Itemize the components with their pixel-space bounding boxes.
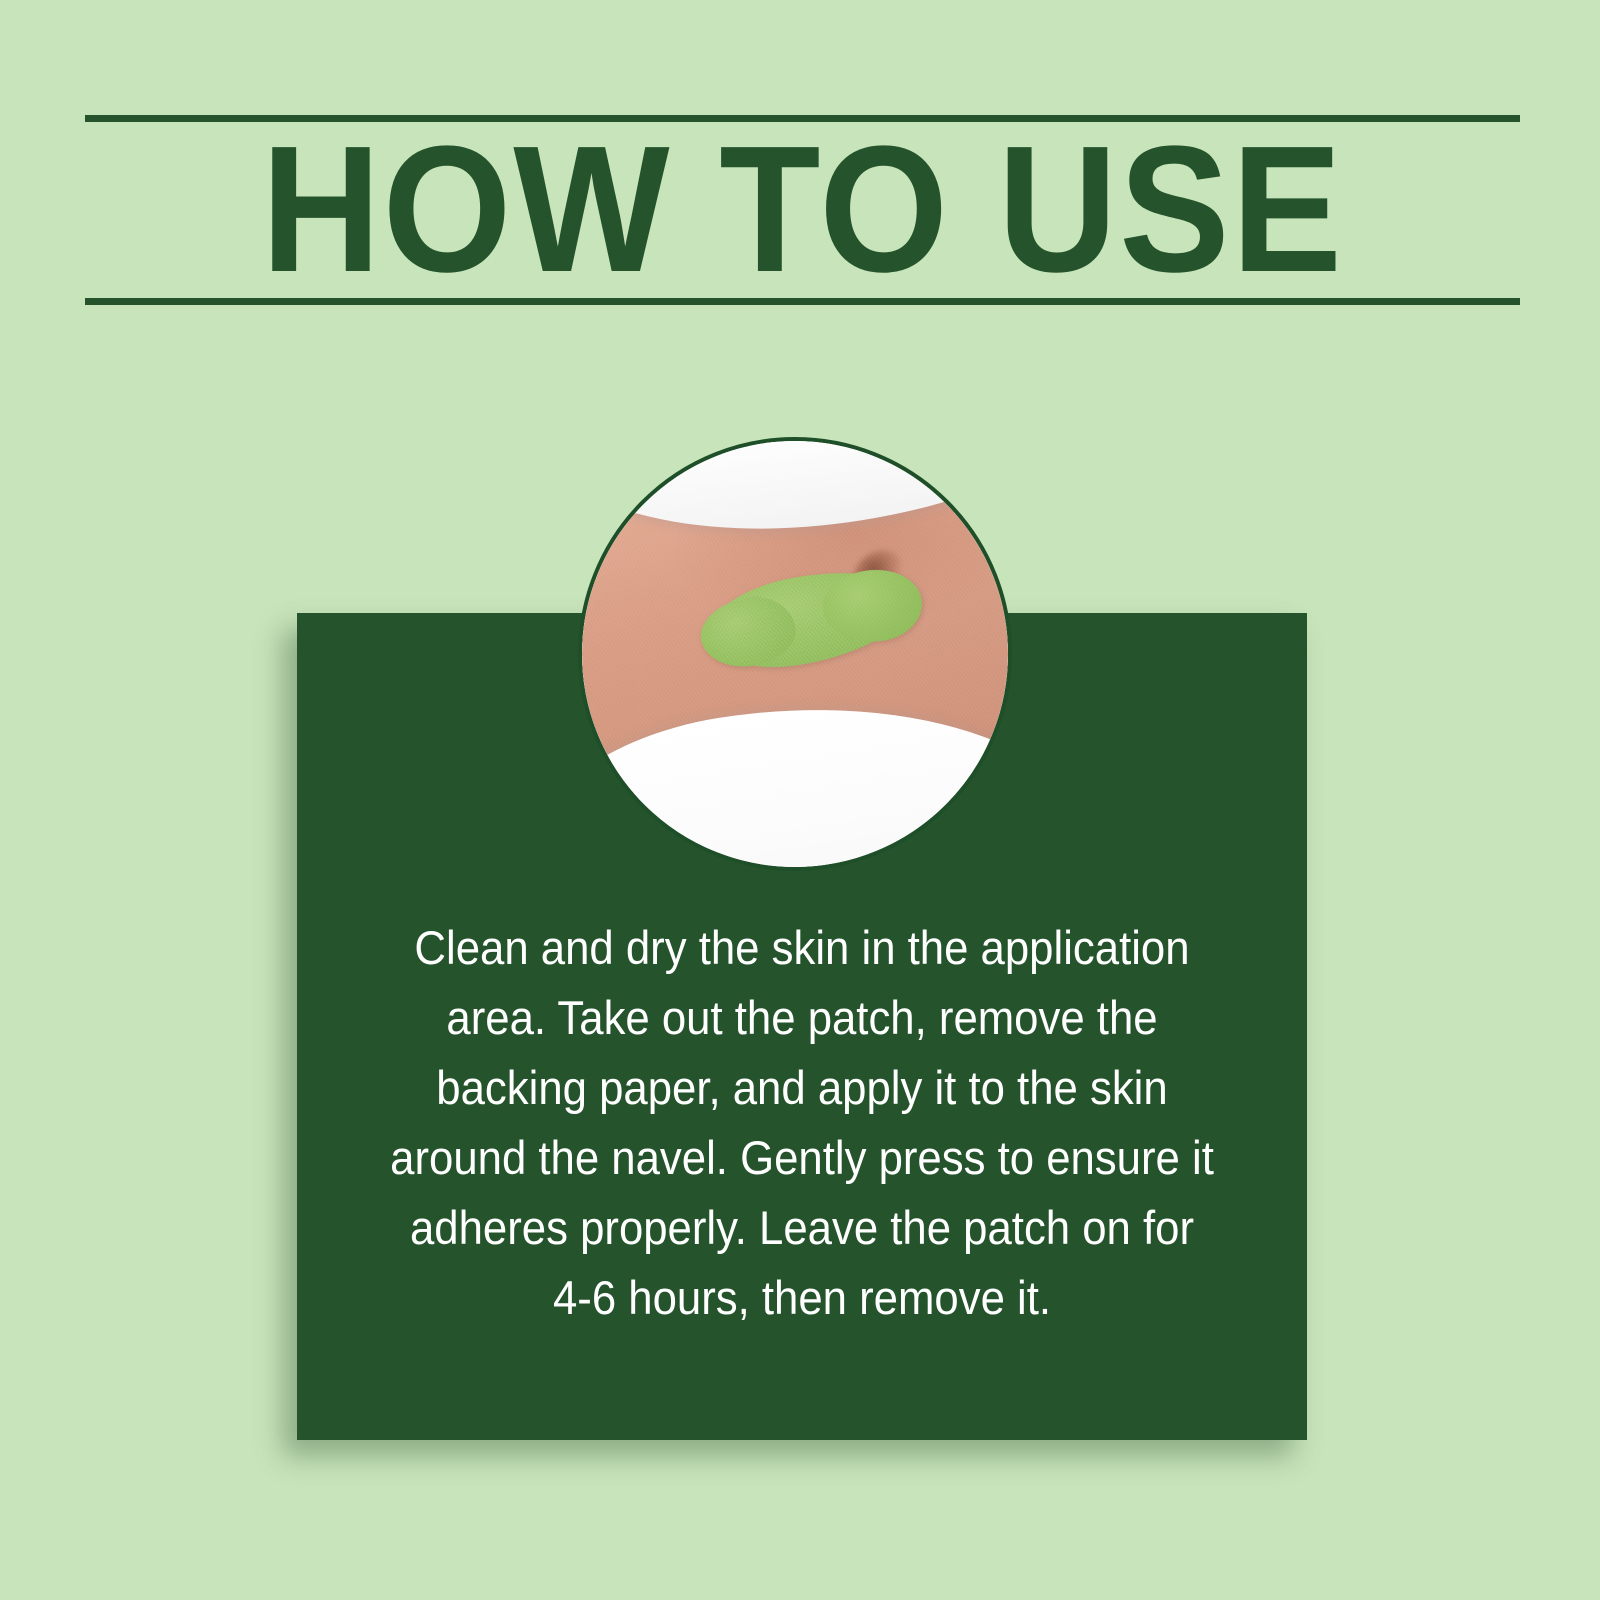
- instructions-text: Clean and dry the skin in the applicatio…: [388, 913, 1216, 1333]
- photo-inner: [582, 441, 1008, 867]
- belly-with-patch-photo: [578, 437, 1012, 871]
- page-title: HOW TO USE: [142, 115, 1462, 305]
- header-rule-bottom: [85, 298, 1520, 305]
- patch-texture: [702, 559, 920, 679]
- infographic-page: HOW TO USE Clean and dry the skin in the…: [0, 0, 1600, 1600]
- navel: [847, 542, 909, 599]
- header: HOW TO USE: [85, 115, 1520, 305]
- green-patch: [702, 559, 920, 679]
